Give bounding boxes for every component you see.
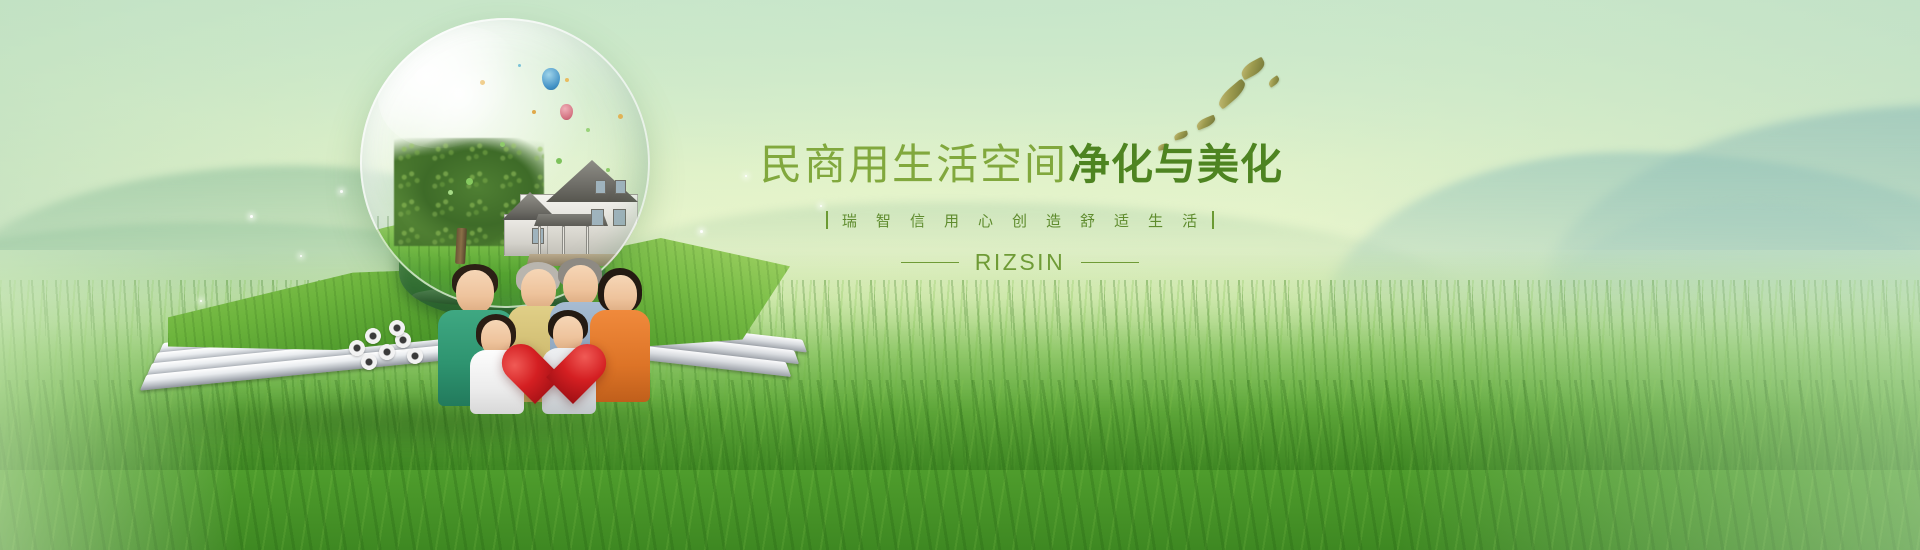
grass-fade-right	[1400, 250, 1920, 550]
leaf-icon	[1238, 57, 1267, 81]
head	[456, 270, 494, 314]
headline-light-part: 民商用生活空间	[760, 141, 1068, 188]
leaf-icon	[1215, 78, 1249, 109]
subtitle-left-bar	[826, 211, 828, 229]
subtitle-char: 生	[1148, 210, 1164, 231]
subtitle-characters: 瑞 智 信 用 心 创 造 舒 适 生 活	[842, 210, 1198, 231]
subtitle-char: 用	[944, 210, 960, 231]
head	[563, 265, 598, 306]
brand-dash-left	[901, 262, 959, 263]
heart-icon	[503, 346, 573, 410]
subtitle-char: 造	[1046, 210, 1062, 231]
sparkle-icon	[340, 190, 343, 193]
brand-dash-right	[1081, 262, 1139, 263]
subtitle: 瑞 智 信 用 心 创 造 舒 适 生 活	[760, 210, 1280, 231]
flower-icon	[389, 320, 405, 336]
subtitle-char: 瑞	[842, 210, 858, 231]
flower-icon	[365, 328, 381, 344]
leaf-icon	[1267, 75, 1281, 88]
daisy-cluster	[345, 318, 435, 364]
brand-line: RIZSIN	[760, 249, 1280, 276]
subtitle-char: 心	[978, 210, 994, 231]
subtitle-right-bar	[1212, 211, 1214, 229]
headline: 民商用生活空间净化与美化	[760, 140, 1280, 190]
head	[604, 275, 637, 314]
headline-bold-part: 净化与美化	[1068, 141, 1283, 188]
family-photo	[430, 258, 650, 448]
leaf-icon	[1195, 115, 1217, 131]
banner-copy: 民商用生活空间净化与美化 瑞 智 信 用 心 创 造 舒 适 生 活 RIZSI…	[760, 140, 1280, 276]
subtitle-char: 信	[910, 210, 926, 231]
flower-icon	[361, 354, 377, 370]
brand-name: RIZSIN	[975, 249, 1065, 276]
subtitle-char: 舒	[1080, 210, 1096, 231]
flower-icon	[379, 344, 395, 360]
subtitle-char: 创	[1012, 210, 1028, 231]
head	[521, 269, 556, 310]
flower-icon	[349, 340, 365, 356]
hero-banner: 民商用生活空间净化与美化 瑞 智 信 用 心 创 造 舒 适 生 活 RIZSI…	[0, 0, 1920, 550]
subtitle-char: 活	[1182, 210, 1198, 231]
sparkle-icon	[745, 175, 747, 177]
sparkle-icon	[250, 215, 253, 218]
subtitle-char: 智	[876, 210, 892, 231]
subtitle-char: 适	[1114, 210, 1130, 231]
flower-icon	[407, 348, 423, 364]
